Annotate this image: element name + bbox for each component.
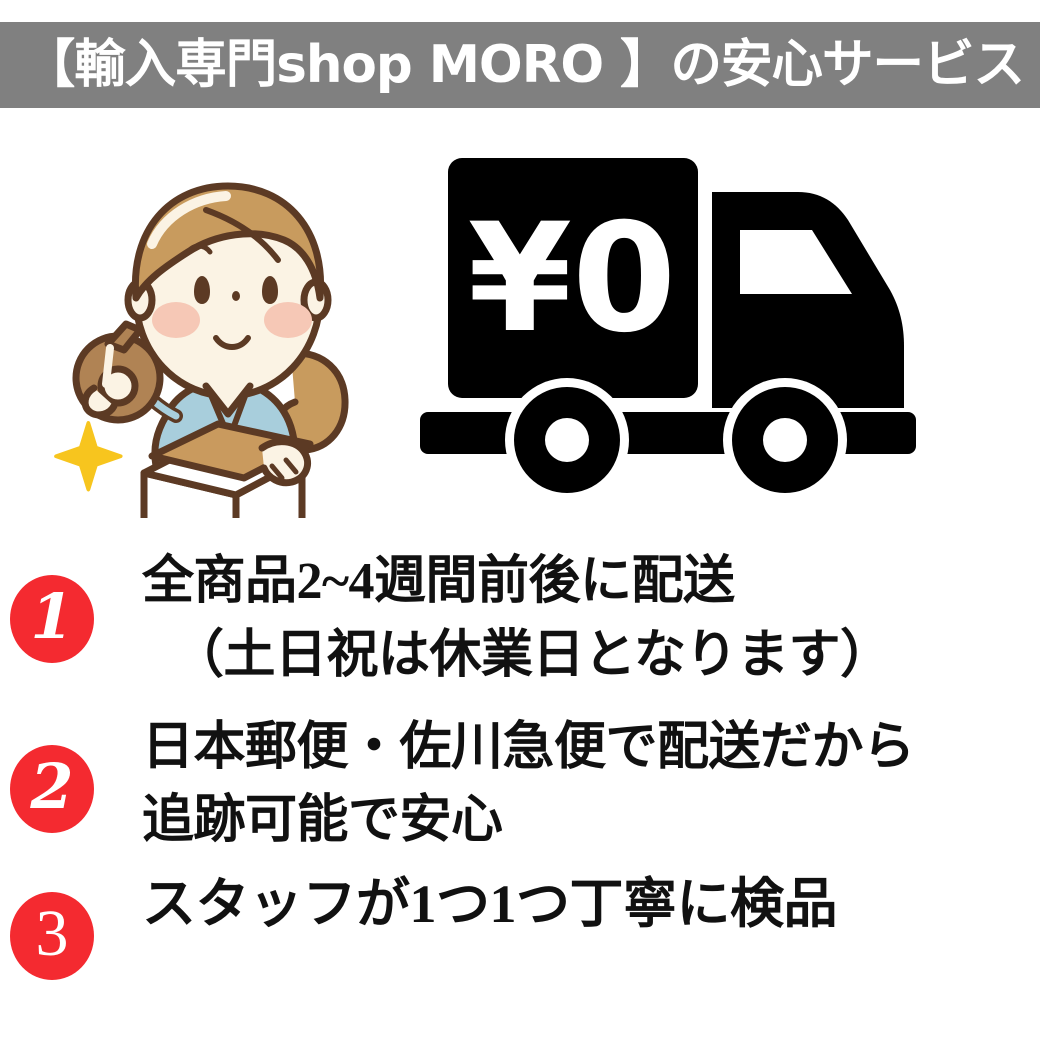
- list-item-line2: 追跡可能で安心: [142, 784, 1040, 858]
- badge-3: 3: [0, 878, 86, 974]
- badge-2: 2: [0, 731, 86, 827]
- badge-number: 1: [30, 586, 73, 648]
- list-item-line1: 日本郵便・佐川急便で配送だから: [142, 719, 915, 776]
- header-banner: 【輸入専門shop MORO 】の安心サービス: [0, 22, 1040, 108]
- illustration-row: ¥0: [0, 120, 1040, 520]
- free-shipping-badge-text: ¥0: [468, 192, 677, 366]
- free-shipping-truck-icon: ¥0: [420, 140, 1000, 510]
- list-item: 1 全商品2~4週間前後に配送 （土日祝は休業日となります）: [0, 545, 1040, 693]
- badge-circle: 2: [10, 745, 94, 833]
- list-item: 3 スタッフが1つ1つ丁寧に検品: [0, 866, 1040, 974]
- list-item: 2 日本郵便・佐川急便で配送だから 追跡可能で安心: [0, 711, 1040, 859]
- badge-circle: 1: [10, 575, 94, 663]
- packing-worker-illustration: [48, 148, 398, 518]
- badge-1: 1: [0, 561, 86, 657]
- badge-circle: 3: [10, 892, 94, 980]
- service-list: 1 全商品2~4週間前後に配送 （土日祝は休業日となります） 2 日本郵便・佐川…: [0, 545, 1040, 974]
- list-item-line2: （土日祝は休業日となります）: [142, 619, 1040, 693]
- list-item-text: 全商品2~4週間前後に配送 （土日祝は休業日となります）: [86, 545, 1040, 693]
- list-item-line1: 全商品2~4週間前後に配送: [142, 553, 735, 610]
- page-title: 【輸入専門shop MORO 】の安心サービス: [0, 22, 1024, 108]
- sparkle-icon: [56, 423, 121, 490]
- truck-cab: [712, 192, 904, 408]
- badge-number: 3: [36, 901, 69, 967]
- badge-number: 2: [30, 756, 73, 818]
- list-item-text: スタッフが1つ1つ丁寧に検品: [86, 866, 1040, 943]
- list-item-text: 日本郵便・佐川急便で配送だから 追跡可能で安心: [86, 711, 1040, 859]
- list-item-line1: スタッフが1つ1つ丁寧に検品: [142, 874, 837, 934]
